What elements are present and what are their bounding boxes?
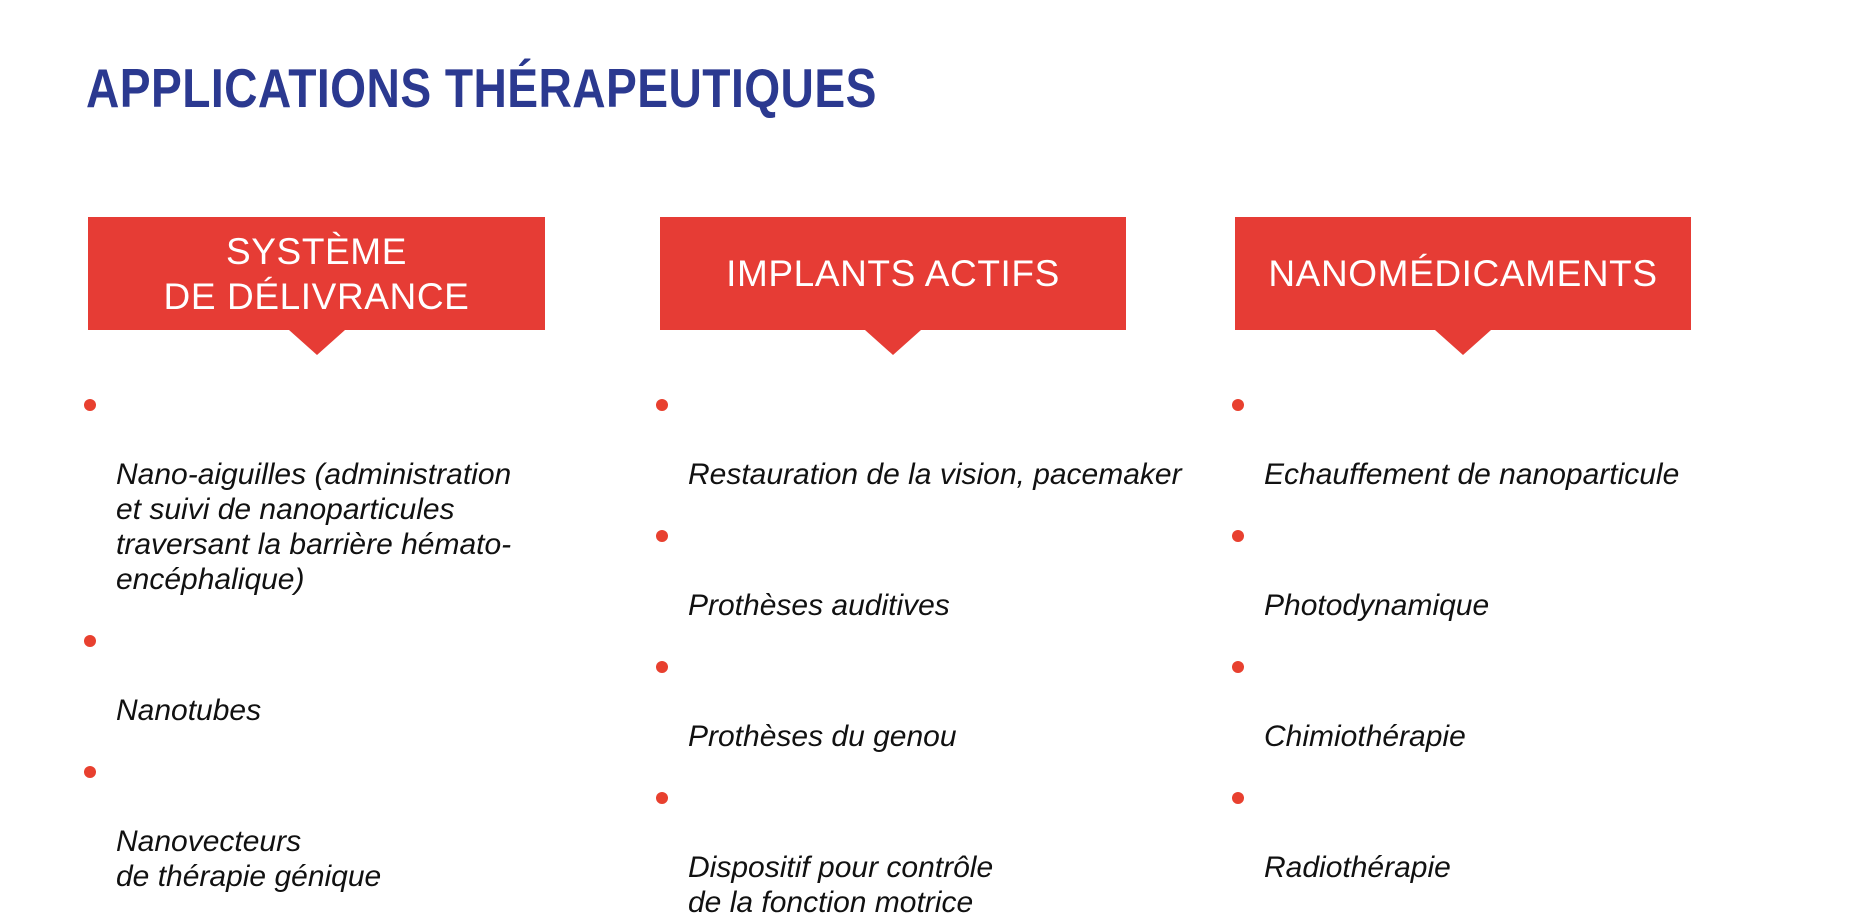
list-item: Nanovecteurs de thérapie génique [80, 754, 600, 894]
infographic-canvas: APPLICATIONS THÉRAPEUTIQUES SYSTÈME DE D… [0, 0, 1854, 772]
banner-wrap-1: SYSTÈME DE DÉLIVRANCE [88, 217, 545, 330]
list-item-text: Prothèses du genou [688, 720, 957, 753]
list-item-text: Dispositif pour contrôle de la fonction … [688, 851, 993, 919]
bullet-list-nanomedicaments: Echauffement de nanoparticule Photodynam… [1228, 387, 1788, 885]
bullet-dot-icon [656, 661, 668, 673]
bullet-dot-icon [656, 792, 668, 804]
list-item-text: Chimiothérapie [1264, 720, 1466, 753]
bullet-dot-icon [84, 766, 96, 778]
bullet-dot-icon [1232, 792, 1244, 804]
bullet-dot-icon [1232, 661, 1244, 673]
list-item-text: Prothèses auditives [688, 589, 950, 622]
column-implants-actifs: IMPLANTS ACTIFS [660, 217, 1126, 330]
list-item: Radiothérapie [1228, 780, 1788, 885]
list-item-text: Photodynamique [1264, 589, 1489, 622]
list-item: Prothèses auditives [652, 518, 1212, 623]
bullet-dot-icon [1232, 530, 1244, 542]
list-item-text: Echauffement de nanoparticule [1264, 458, 1679, 491]
category-banner-2[interactable]: IMPLANTS ACTIFS [660, 217, 1126, 330]
list-item-text: Nano-aiguilles (administration et suivi … [116, 458, 511, 596]
column-nanomedicaments: NANOMÉDICAMENTS [1235, 217, 1691, 330]
category-banner-1[interactable]: SYSTÈME DE DÉLIVRANCE [88, 217, 545, 330]
list-item: Echauffement de nanoparticule [1228, 387, 1788, 492]
bullet-dot-icon [656, 530, 668, 542]
bullet-dot-icon [1232, 399, 1244, 411]
banner-arrow-down-icon-1 [289, 330, 345, 355]
list-item: Chimiothérapie [1228, 649, 1788, 754]
category-banner-label-1: SYSTÈME DE DÉLIVRANCE [164, 229, 470, 319]
bullet-dot-icon [84, 399, 96, 411]
list-item-text: Restauration de la vision, pacemaker [688, 458, 1182, 491]
banner-arrow-down-icon-2 [865, 330, 921, 355]
bullet-list-implants-actifs: Restauration de la vision, pacemaker Pro… [652, 387, 1212, 920]
bullet-list-systeme-de-delivrance: Nano-aiguilles (administration et suivi … [80, 387, 600, 894]
bullet-dot-icon [84, 635, 96, 647]
banner-wrap-3: NANOMÉDICAMENTS [1235, 217, 1691, 330]
category-banner-label-2: IMPLANTS ACTIFS [726, 251, 1060, 296]
banner-arrow-down-icon-3 [1435, 330, 1491, 355]
page-title: APPLICATIONS THÉRAPEUTIQUES [86, 58, 877, 118]
list-item: Dispositif pour contrôle de la fonction … [652, 780, 1212, 920]
list-item-text: Nanotubes [116, 694, 261, 727]
list-item-text: Radiothérapie [1264, 851, 1451, 884]
list-item-text: Nanovecteurs de thérapie génique [116, 825, 381, 893]
banner-wrap-2: IMPLANTS ACTIFS [660, 217, 1126, 330]
list-item: Nano-aiguilles (administration et suivi … [80, 387, 600, 597]
bullet-dot-icon [656, 399, 668, 411]
list-item: Photodynamique [1228, 518, 1788, 623]
list-item: Prothèses du genou [652, 649, 1212, 754]
list-item: Nanotubes [80, 623, 600, 728]
category-banner-3[interactable]: NANOMÉDICAMENTS [1235, 217, 1691, 330]
list-item: Restauration de la vision, pacemaker [652, 387, 1212, 492]
column-systeme-de-delivrance: SYSTÈME DE DÉLIVRANCE [88, 217, 545, 330]
category-banner-label-3: NANOMÉDICAMENTS [1268, 251, 1657, 296]
